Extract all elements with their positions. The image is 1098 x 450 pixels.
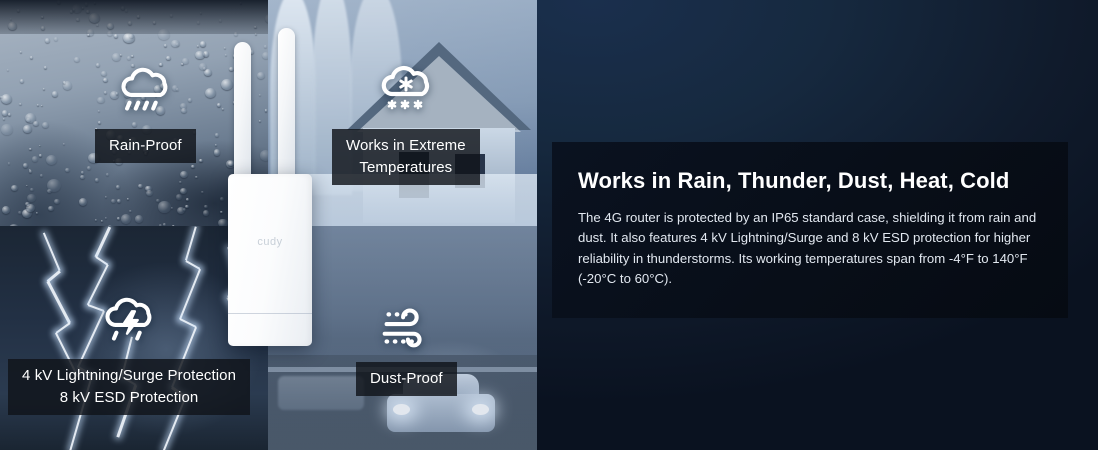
description-panel: Works in Rain, Thunder, Dust, Heat, Cold…	[537, 0, 1098, 450]
lightning-cloud-icon	[98, 292, 160, 359]
feature-lightning-protection: 4 kV Lightning/Surge Protection 8 kV ESD…	[8, 292, 250, 415]
feature-dust-proof: Dust-Proof	[356, 295, 457, 396]
panel-body-text: The 4G router is protected by an IP65 st…	[578, 208, 1038, 290]
product-feature-banner: cudy Rain-Proof	[0, 0, 1098, 450]
feature-rain-proof: Rain-Proof	[95, 62, 196, 163]
wind-dust-icon	[375, 295, 437, 362]
feature-label-rain: Rain-Proof	[95, 129, 196, 163]
brand-logo: cudy	[228, 236, 312, 248]
antenna-left	[234, 42, 251, 194]
rain-cloud-icon	[114, 62, 176, 129]
scene-collage: cudy Rain-Proof	[0, 0, 537, 450]
panel-title: Works in Rain, Thunder, Dust, Heat, Cold	[578, 168, 1038, 194]
feature-label-lightning: 4 kV Lightning/Surge Protection 8 kV ESD…	[8, 359, 250, 415]
antenna-right	[278, 28, 295, 180]
feature-label-temperatures: Works in Extreme Temperatures	[332, 129, 480, 185]
feature-label-dust: Dust-Proof	[356, 362, 457, 396]
feature-extreme-temperatures: Works in Extreme Temperatures	[332, 60, 480, 185]
description-card: Works in Rain, Thunder, Dust, Heat, Cold…	[552, 142, 1068, 318]
snow-cloud-icon	[374, 60, 438, 129]
